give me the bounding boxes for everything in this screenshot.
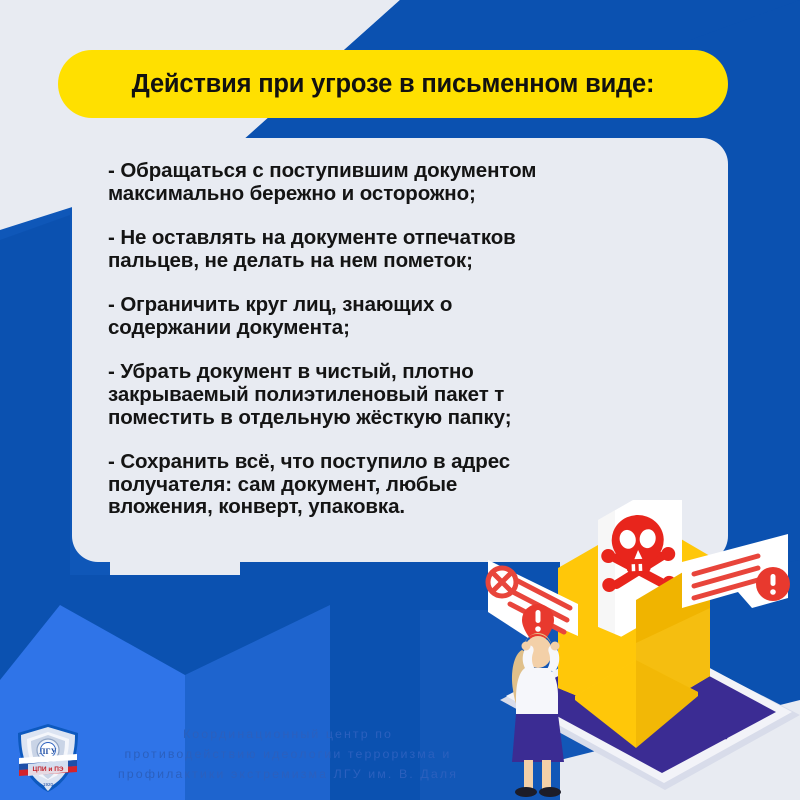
svg-text:ЛГУ: ЛГУ	[40, 747, 57, 756]
svg-text:1920: 1920	[43, 782, 54, 787]
page-title: Действия при угрозе в письменном виде:	[132, 70, 655, 99]
list-item: - Обращаться с поступившим документом ма…	[108, 160, 710, 206]
title-banner: Действия при угрозе в письменном виде:	[58, 50, 728, 118]
list-item: - Убрать документ в чистый, плотно закры…	[108, 361, 710, 430]
poster-root: Действия при угрозе в письменном виде: -…	[0, 0, 800, 800]
footer-organization-text: Координационный центр по противодействию…	[78, 724, 498, 784]
instructions-card: - Обращаться с поступившим документом ма…	[72, 138, 728, 562]
instruction-list: - Обращаться с поступившим документом ма…	[108, 160, 710, 519]
list-item: - Ограничить круг лиц, знающих о содержа…	[108, 294, 710, 340]
footer-bar: ЛГУ ЦПИ и ПЭ 1920 Координационный центр …	[0, 710, 800, 800]
organization-logo-icon: ЛГУ ЦПИ и ПЭ 1920	[14, 722, 82, 794]
list-item: - Не оставлять на документе отпечатков п…	[108, 227, 710, 273]
bubble-alert-message	[682, 534, 790, 608]
exclamation-circle-icon	[756, 567, 790, 601]
emblem-abbr-text: ЦПИ и ПЭ	[33, 766, 64, 773]
